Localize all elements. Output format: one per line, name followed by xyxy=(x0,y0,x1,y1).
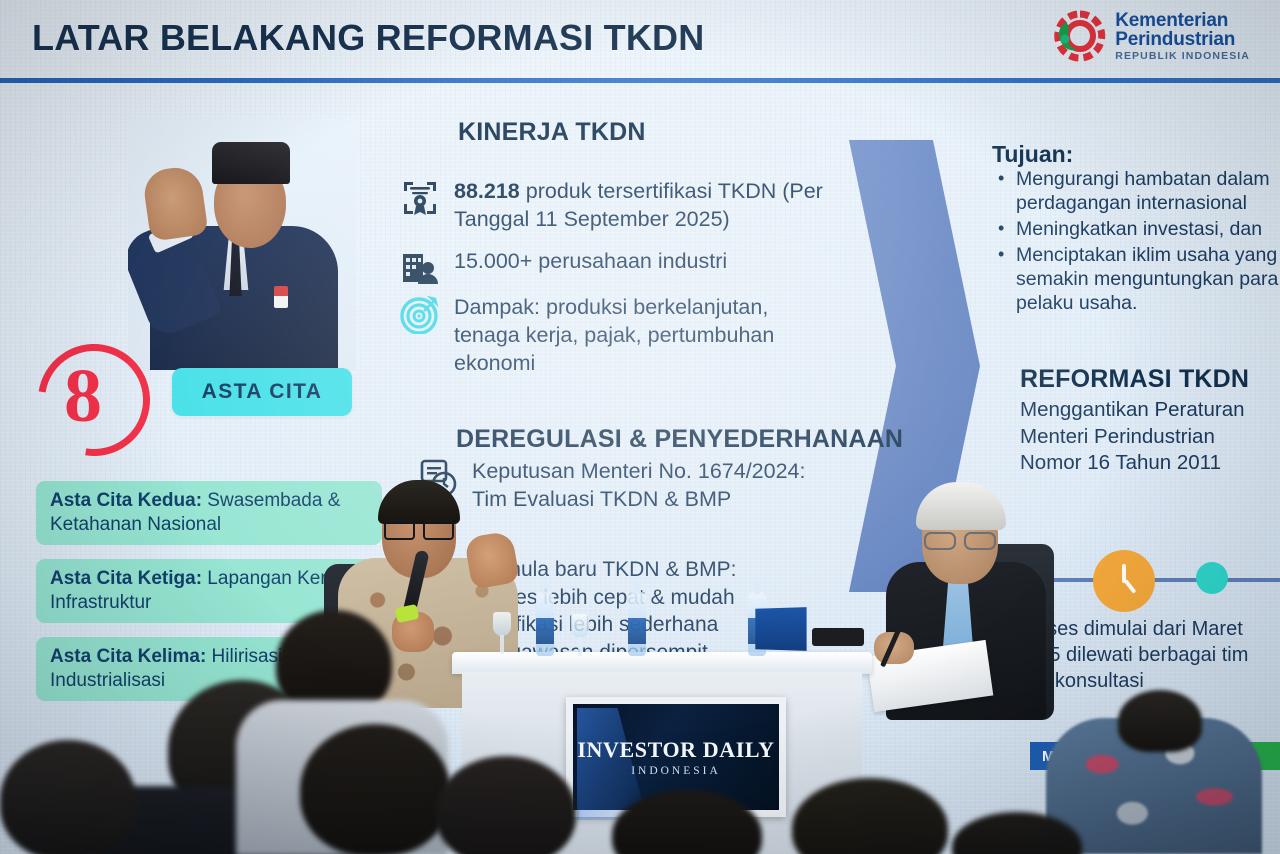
speaker-left-hair xyxy=(378,480,460,524)
kinerja-row-certified: 88.218 produk tersertifikasi TKDN (Per T… xyxy=(400,178,840,234)
conference-photo-stage: LATAR BELAKANG REFORMASI TKDN Kementeria… xyxy=(0,0,1280,854)
impact-text: Dampak: produksi berkelanjutan, tenaga k… xyxy=(454,294,830,378)
reformasi-body: Menggantikan Peraturan Menteri Perindust… xyxy=(1020,397,1280,477)
asta-cita-logo: 8 xyxy=(38,344,150,456)
card-3-bold: Asta Cita Kelima: xyxy=(50,646,206,667)
speaker-left-raised-hand xyxy=(464,530,520,590)
logo-line-1: Kementerian xyxy=(1115,11,1250,30)
logo-line-3: REPUBLIK INDONESIA xyxy=(1115,51,1250,62)
kinerja-row-impact: Dampak: produksi berkelanjutan, tenaga k… xyxy=(400,294,830,378)
card-1-bold: Asta Cita Kedua: xyxy=(50,490,202,511)
tujuan-item-2: Meningkatkan investasi, dan xyxy=(994,218,1280,242)
gear-leaf-icon xyxy=(1050,8,1106,64)
water-bottle xyxy=(628,592,646,656)
glasses-icon xyxy=(924,532,996,546)
kinerja-tkdn-heading: KINERJA TKDN xyxy=(458,118,646,147)
water-bottle xyxy=(536,592,554,656)
table-microphone xyxy=(812,628,864,646)
water-glass xyxy=(492,612,512,654)
conference-table-top xyxy=(452,652,872,674)
glasses-icon xyxy=(384,520,454,536)
clock-icon xyxy=(1093,550,1155,612)
audience-head xyxy=(1118,690,1202,752)
certificate-icon xyxy=(400,178,440,234)
tujuan-item-3: Menciptakan iklim usaha yang semakin men… xyxy=(994,244,1280,316)
name-tent-card xyxy=(755,607,806,651)
audience-head xyxy=(0,740,136,854)
timeline-dot-teal-icon xyxy=(1196,562,1228,594)
target-dart-icon xyxy=(400,294,440,378)
logo-line-2: Perindustrian xyxy=(1115,30,1250,49)
investor-daily-subtitle: INDONESIA xyxy=(631,765,721,777)
ministry-logo: Kementerian Perindustrian REPUBLIK INDON… xyxy=(1050,8,1250,64)
kinerja-row-companies: 15.000+ perusahaan industri xyxy=(400,248,840,293)
audience-head xyxy=(300,724,450,854)
investor-daily-title: INVESTOR DAILY xyxy=(577,737,774,763)
slide-title: LATAR BELAKANG REFORMASI TKDN xyxy=(32,17,704,59)
leader-photo xyxy=(128,118,356,370)
ministry-logo-text: Kementerian Perindustrian REPUBLIK INDON… xyxy=(1115,11,1250,62)
speaker-right-hair xyxy=(916,482,1006,530)
companies-text: 15.000+ perusahaan industri xyxy=(454,248,727,293)
asta-cita-badge: ASTA CITA xyxy=(172,368,352,416)
asta-cita-numeral: 8 xyxy=(64,358,102,434)
tujuan-list: Mengurangi hambatan dalam perdagangan in… xyxy=(994,168,1280,318)
water-glass xyxy=(570,614,590,656)
industrial-company-icon xyxy=(400,248,440,293)
reformasi-heading: REFORMASI TKDN xyxy=(1020,365,1249,394)
tujuan-heading: Tujuan: xyxy=(992,141,1073,168)
card-2-bold: Asta Cita Ketiga: xyxy=(50,568,202,589)
speaker-right xyxy=(878,470,1078,720)
title-divider xyxy=(0,78,1280,83)
deregulasi-heading: DEREGULASI & PENYEDERHANAAN xyxy=(456,425,903,454)
certified-count: 88.218 xyxy=(454,179,520,203)
certified-products-text: 88.218 produk tersertifikasi TKDN (Per T… xyxy=(454,178,840,234)
tujuan-item-1: Mengurangi hambatan dalam perdagangan in… xyxy=(994,168,1280,216)
